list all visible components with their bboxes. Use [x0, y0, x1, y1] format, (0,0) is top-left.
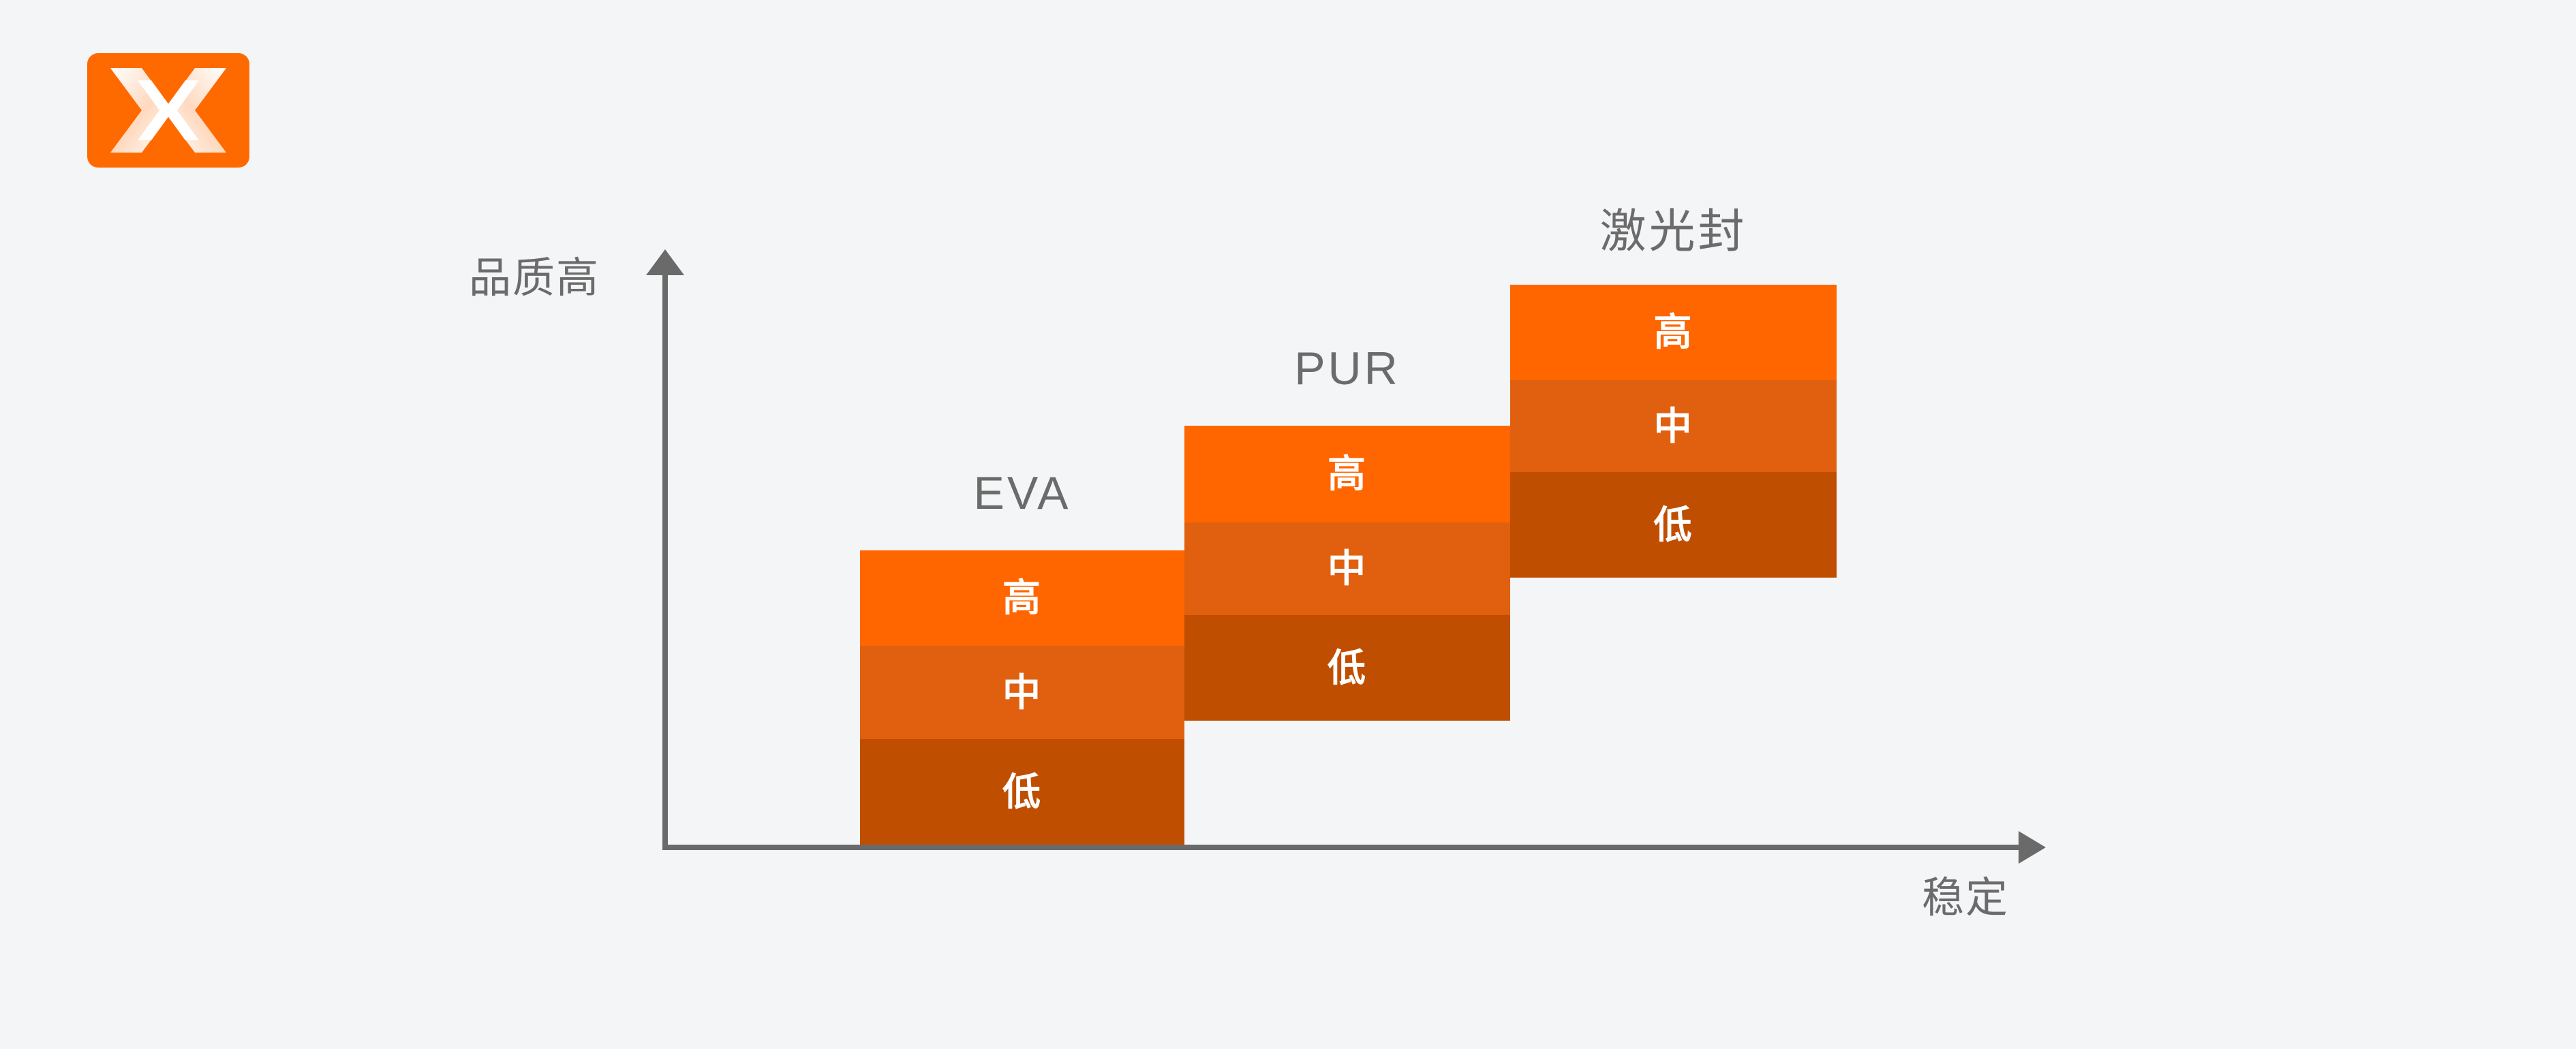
- y-axis-arrow-icon: [646, 249, 684, 275]
- stack-pur-segment-high: 高: [1184, 426, 1510, 522]
- chart-canvas: 品质高 稳定 EVA 高 中 低 PUR 高 中 低 激光封 高 中 低: [0, 0, 2576, 1049]
- stack-laser-seal-segment-mid: 中: [1510, 380, 1837, 472]
- stack-pur-segment-low: 低: [1184, 615, 1510, 721]
- x-axis-arrow-icon: [2019, 831, 2046, 864]
- stack-pur-title: PUR: [1184, 345, 1510, 392]
- stack-laser-seal-segment-low: 低: [1510, 472, 1837, 578]
- stack-eva-title: EVA: [860, 470, 1184, 516]
- stack-laser-seal-segment-high: 高: [1510, 285, 1837, 380]
- stack-eva-segment-low: 低: [860, 739, 1184, 845]
- stack-eva-segment-high: 高: [860, 550, 1184, 646]
- stack-laser-seal: 激光封 高 中 低: [1510, 285, 1837, 578]
- brand-logo: [87, 53, 249, 168]
- stack-pur: PUR 高 中 低: [1184, 426, 1510, 721]
- stack-eva: EVA 高 中 低: [860, 550, 1184, 845]
- x-axis-line: [662, 845, 2020, 850]
- double-chevron-x-icon: [87, 53, 249, 168]
- stack-eva-segment-mid: 中: [860, 646, 1184, 739]
- stack-laser-seal-title: 激光封: [1510, 208, 1837, 255]
- y-axis-label: 品质高: [469, 257, 600, 300]
- y-axis-line: [662, 266, 668, 850]
- x-axis-label: 稳定: [1922, 877, 2009, 920]
- stack-pur-segment-mid: 中: [1184, 522, 1510, 615]
